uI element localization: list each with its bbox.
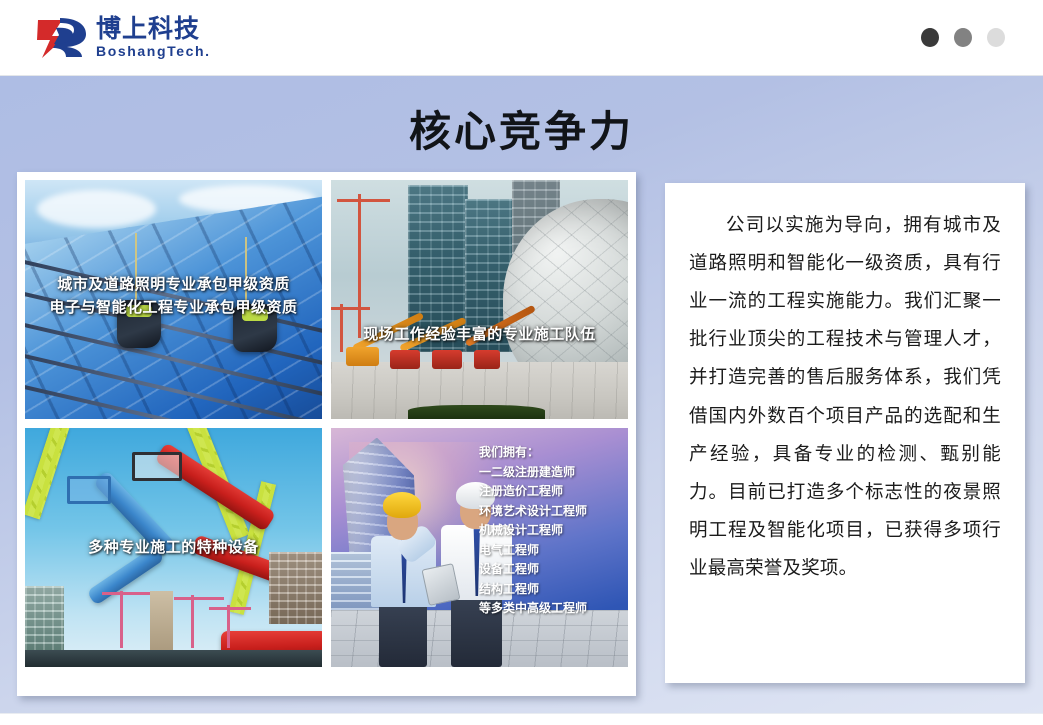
skill-item: 环境艺术设计工程师 [479, 502, 619, 522]
tile-caption: 多种专业施工的特种设备 [25, 536, 322, 559]
skill-item: 等多类中高级工程师 [479, 599, 619, 619]
brand-text: 博上科技 BoshangTech. [96, 16, 211, 60]
brand-name-cn: 博上科技 [96, 16, 211, 42]
lift-basket [132, 452, 182, 481]
talent-skill-list: 我们拥有： 一二级注册建造师 注册造价工程师 环境艺术设计工程师 机械设计工程师… [479, 443, 619, 619]
dot-dark-icon[interactable] [921, 28, 939, 47]
lift-vehicle [432, 350, 462, 369]
tower-crane-mast [227, 605, 230, 648]
tower-crane-mast [358, 194, 361, 337]
tower-crane-arm [331, 307, 370, 310]
image-gallery-card: 城市及道路照明专业承包甲级资质 电子与智能化工程专业承包甲级资质 [17, 172, 636, 696]
tower-crane-arm [209, 607, 251, 610]
window-dots [921, 28, 1005, 47]
brand-logo[interactable]: 博上科技 BoshangTech. [36, 14, 211, 62]
description-card: 公司以实施为导向，拥有城市及道路照明和智能化一级资质，具有行业一流的工程实施能力… [665, 183, 1025, 683]
skill-item: 机械设计工程师 [479, 521, 619, 541]
city-building [269, 552, 322, 624]
lift-basket [67, 476, 112, 505]
cloud-shape [37, 190, 156, 228]
tile-equipment[interactable]: 多种专业施工的特种设备 [25, 428, 322, 667]
page-title: 核心竞争力 [0, 98, 1043, 159]
skill-item: 注册造价工程师 [479, 482, 619, 502]
lift-vehicle [390, 350, 420, 369]
tile-talent[interactable]: 我们拥有： 一二级注册建造师 注册造价工程师 环境艺术设计工程师 机械设计工程师… [331, 428, 628, 667]
image-grid: 城市及道路照明专业承包甲级资质 电子与智能化工程专业承包甲级资质 [25, 180, 628, 688]
ground-strip [25, 650, 322, 667]
tower-crane-mast [191, 595, 194, 648]
tile-qualifications[interactable]: 城市及道路照明专业承包甲级资质 电子与智能化工程专业承包甲级资质 [25, 180, 322, 419]
concrete-core [150, 591, 174, 658]
tile-caption: 城市及道路照明专业承包甲级资质 电子与智能化工程专业承包甲级资质 [25, 273, 322, 320]
dot-light-icon[interactable] [987, 28, 1005, 47]
trousers [379, 596, 427, 667]
hedge [408, 405, 545, 419]
skill-item: 一二级注册建造师 [479, 463, 619, 483]
tile-caption-line: 电子与智能化工程专业承包甲级资质 [25, 296, 322, 319]
skills-heading: 我们拥有： [479, 443, 619, 463]
slide-canvas: 核心竞争力 [0, 76, 1043, 713]
lift-vehicle [346, 347, 379, 366]
lift-vehicle [474, 350, 501, 369]
tile-caption-line: 多种专业施工的特种设备 [25, 536, 322, 559]
lattice-boom [25, 428, 69, 519]
dot-mid-icon[interactable] [954, 28, 972, 47]
tower-crane-arm [174, 597, 224, 600]
boshang-b-logo-icon [36, 14, 90, 62]
tower-crane-arm [337, 199, 390, 202]
slide-viewer: 博上科技 BoshangTech. 核心竞争力 [0, 0, 1043, 725]
tower-crane-arm [102, 592, 150, 595]
tile-caption: 现场工作经验丰富的专业施工队伍 [331, 323, 628, 346]
tile-site-team[interactable]: 现场工作经验丰富的专业施工队伍 [331, 180, 628, 419]
tile-caption-line: 城市及道路照明专业承包甲级资质 [25, 273, 322, 296]
brand-name-en: BoshangTech. [96, 43, 211, 60]
tower-crane-mast [120, 591, 123, 648]
skill-item: 电气工程师 [479, 541, 619, 561]
skill-item: 设备工程师 [479, 560, 619, 580]
app-header: 博上科技 BoshangTech. [0, 0, 1043, 76]
hard-hat-yellow [383, 492, 422, 519]
tile-caption-line: 现场工作经验丰富的专业施工队伍 [331, 323, 628, 346]
slide-footer [0, 713, 1043, 725]
description-text: 公司以实施为导向，拥有城市及道路照明和智能化一级资质，具有行业一流的工程实施能力… [689, 207, 1001, 588]
skill-item: 结构工程师 [479, 580, 619, 600]
